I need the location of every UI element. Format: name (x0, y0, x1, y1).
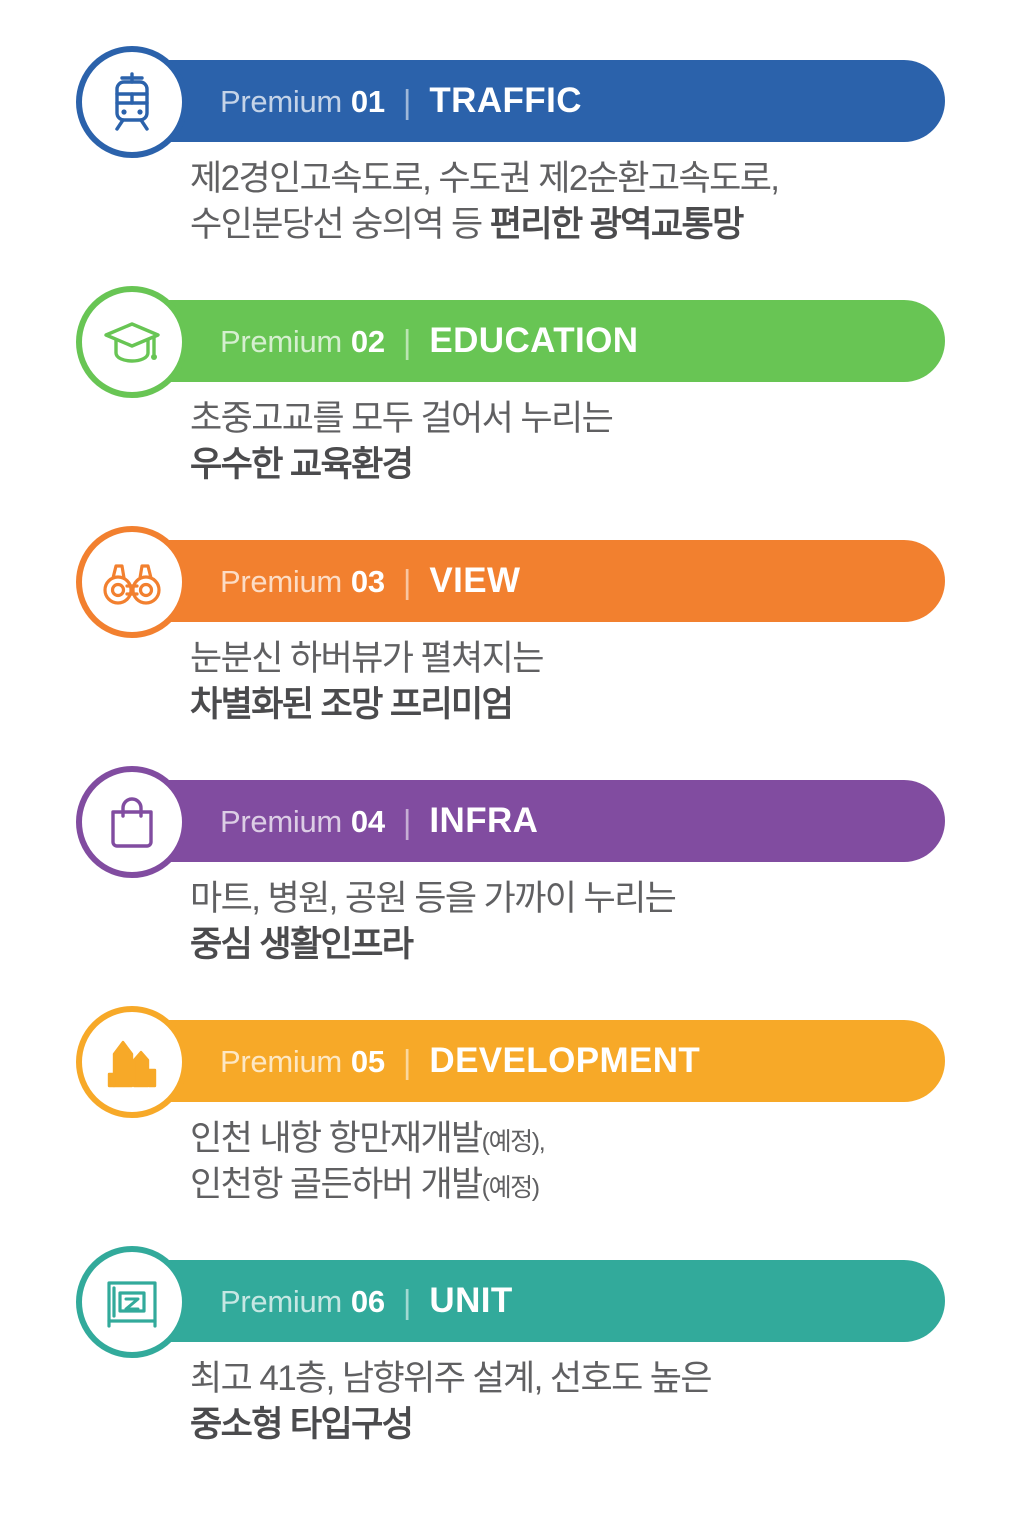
floor-plan-icon-badge (76, 1246, 188, 1358)
copy-line-2: 중소형 타입구성 (190, 1402, 980, 1448)
binoculars-icon (100, 550, 164, 614)
bar-text: Premium 02 | EDUCATION (220, 321, 638, 361)
premium-number: 01 (351, 84, 385, 120)
premium-label: EDUCATION (429, 321, 638, 361)
premium-label: DEVELOPMENT (429, 1041, 700, 1081)
shopping-bag-icon-badge (76, 766, 188, 878)
premium-word: Premium (220, 324, 342, 360)
graduation-cap-icon-badge (76, 286, 188, 398)
copy-line-2-normal: 수인분당선 숭의역 등 (190, 205, 490, 244)
premium-number: 02 (351, 324, 385, 360)
shopping-bag-icon (100, 790, 164, 854)
body-copy: 최고 41층, 남향위주 설계, 선호도 높은 중소형 타입구성 (190, 1356, 980, 1447)
bar-text: Premium 03 | VIEW (220, 561, 520, 601)
copy-line-1: 마트, 병원, 공원 등을 가까이 누리는 (190, 876, 980, 922)
copy-line-1: 초중고교를 모두 걸어서 누리는 (190, 396, 980, 442)
bar-text: Premium 06 | UNIT (220, 1281, 513, 1321)
premium-number: 04 (351, 804, 385, 840)
premium-number: 03 (351, 564, 385, 600)
bar-text: Premium 01 | TRAFFIC (220, 81, 582, 121)
copy-line-1-main: 인천 내항 항만재개발 (190, 1119, 482, 1158)
separator: | (403, 1043, 412, 1081)
body-copy: 눈분신 하버뷰가 펼쳐지는 차별화된 조망 프리미엄 (190, 636, 980, 727)
premium-label: INFRA (429, 801, 538, 841)
premium-feature-list: Premium 01 | TRAFFIC (0, 0, 1011, 1532)
separator: | (403, 83, 412, 121)
premium-row-development: Premium 05 | DEVELOPMENT 인천 내항 항만재개발(예정)… (0, 960, 1011, 1200)
premium-bar-development: Premium 05 | DEVELOPMENT (105, 1020, 945, 1102)
premium-label: VIEW (429, 561, 520, 601)
premium-row-infra: Premium 04 | INFRA 마트, 병원, 공원 등을 가까이 누리는… (0, 720, 1011, 960)
premium-label: UNIT (429, 1281, 512, 1321)
copy-line-1-note: (예정), (482, 1128, 545, 1156)
premium-number: 06 (351, 1284, 385, 1320)
premium-word: Premium (220, 564, 342, 600)
copy-line-1: 제2경인고속도로, 수도권 제2순환고속도로, (190, 156, 980, 202)
bar-text: Premium 04 | INFRA (220, 801, 538, 841)
separator: | (403, 1283, 412, 1321)
train-icon (100, 70, 164, 134)
premium-label: TRAFFIC (429, 81, 582, 121)
premium-bar-education: Premium 02 | EDUCATION (105, 300, 945, 382)
bar-text: Premium 05 | DEVELOPMENT (220, 1041, 700, 1081)
body-copy: 인천 내항 항만재개발(예정), 인천항 골든하버 개발(예정) (190, 1116, 980, 1207)
body-copy: 제2경인고속도로, 수도권 제2순환고속도로, 수인분당선 숭의역 등 편리한 … (190, 156, 980, 247)
separator: | (403, 563, 412, 601)
copy-line-2-strong: 편리한 광역교통망 (490, 205, 743, 244)
city-buildings-icon-badge (76, 1006, 188, 1118)
graduation-cap-icon (100, 310, 164, 374)
copy-line-1: 최고 41층, 남향위주 설계, 선호도 높은 (190, 1356, 980, 1402)
premium-word: Premium (220, 1284, 342, 1320)
premium-row-traffic: Premium 01 | TRAFFIC (0, 0, 1011, 240)
premium-row-unit: Premium 06 | UNIT 최고 41층, 남향위주 설계, 선호도 높… (0, 1200, 1011, 1440)
copy-line-2-note: (예정) (482, 1174, 539, 1202)
premium-bar-infra: Premium 04 | INFRA (105, 780, 945, 862)
copy-line-1: 눈분신 하버뷰가 펼쳐지는 (190, 636, 980, 682)
floor-plan-icon (100, 1270, 164, 1334)
body-copy: 마트, 병원, 공원 등을 가까이 누리는 중심 생활인프라 (190, 876, 980, 967)
premium-word: Premium (220, 84, 342, 120)
separator: | (403, 323, 412, 361)
premium-bar-view: Premium 03 | VIEW (105, 540, 945, 622)
premium-bar-traffic: Premium 01 | TRAFFIC (105, 60, 945, 142)
train-icon-badge (76, 46, 188, 158)
premium-number: 05 (351, 1044, 385, 1080)
copy-line-1: 인천 내항 항만재개발(예정), (190, 1116, 980, 1162)
premium-word: Premium (220, 1044, 342, 1080)
separator: | (403, 803, 412, 841)
body-copy: 초중고교를 모두 걸어서 누리는 우수한 교육환경 (190, 396, 980, 487)
city-buildings-icon (100, 1030, 164, 1094)
premium-word: Premium (220, 804, 342, 840)
premium-row-education: Premium 02 | EDUCATION 초중고교를 모두 걸어서 누리는 … (0, 240, 1011, 480)
copy-line-2-main: 인천항 골든하버 개발 (190, 1165, 482, 1204)
premium-row-view: Premium 03 | VIEW 눈분신 하 (0, 480, 1011, 720)
premium-bar-unit: Premium 06 | UNIT (105, 1260, 945, 1342)
binoculars-icon-badge (76, 526, 188, 638)
